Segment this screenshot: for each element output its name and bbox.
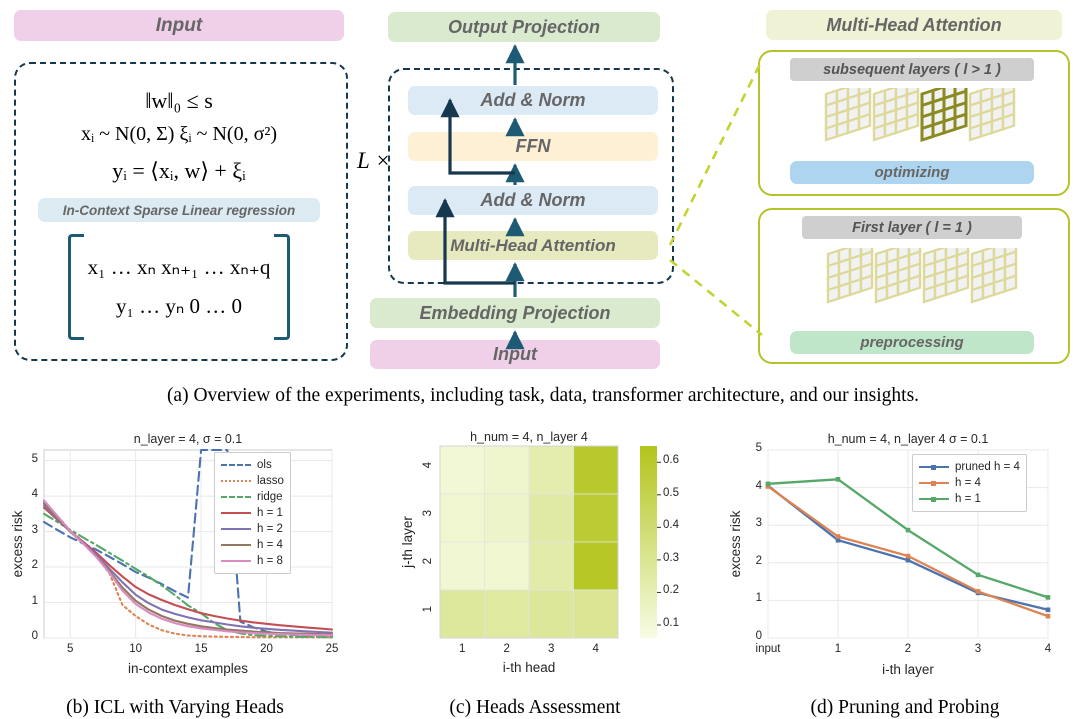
legend-label: ols (257, 459, 272, 471)
input-block-bottom: Input (370, 340, 660, 369)
chart-d-yaxis-label: excess risk (728, 450, 743, 638)
matrix-rows: x₁ … xₙ xₙ₊₁ … xₙ₊q y₁ … yₙ 0 … 0 (84, 248, 275, 326)
attention-heads-planes-subsequent (820, 88, 1030, 160)
legend-label: lasso (257, 475, 284, 487)
legend-swatch (221, 512, 251, 514)
chart-d-legend: pruned h = 4h = 4h = 1 (912, 454, 1027, 512)
output-projection-block: Output Projection (388, 12, 660, 42)
legend-label: h = 8 (257, 555, 283, 567)
chart-b-legend-item: lasso (221, 473, 284, 489)
legend-swatch (919, 466, 949, 468)
chart-b-legend-item: h = 2 (221, 521, 284, 537)
chart-d-xtick: input (746, 643, 790, 655)
preprocessing-chip: preprocessing (790, 331, 1034, 354)
chart-d-ytick: 1 (746, 592, 762, 604)
legend-marker (931, 465, 936, 470)
chart-d-xtick: 3 (956, 643, 1000, 655)
multi-head-attention-block: Multi-Head Attention (408, 231, 658, 260)
attention-heads-planes-first (822, 248, 1032, 326)
chart-c-xtick: 1 (452, 643, 472, 655)
task-name-chip: In-Context Sparse Linear regression (38, 198, 320, 222)
chart-c-xtick: 2 (497, 643, 517, 655)
legend-label: h = 1 (257, 507, 283, 519)
subsequent-layers-chip: subsequent layers ( l > 1 ) (790, 58, 1034, 81)
chart-b-xaxis-label: in-context examples (44, 661, 332, 676)
legend-swatch (919, 482, 949, 484)
chart-d-xtick: 1 (816, 643, 860, 655)
chart-c-ytick: 3 (422, 510, 434, 522)
add-norm-block-top: Add & Norm (408, 86, 658, 115)
chart-c-ytick: 4 (422, 462, 434, 474)
chart-c-xtick: 4 (586, 643, 606, 655)
chart-d-legend-item: h = 1 (919, 491, 1020, 507)
chart-c-ytick: 1 (422, 606, 434, 618)
embedding-projection-block: Embedding Projection (370, 298, 660, 328)
chart-b-legend: olslassoridgeh = 1h = 2h = 4h = 8 (214, 452, 291, 574)
chart-icl-varying-heads: olslassoridgeh = 1h = 2h = 4h = 8 n_laye… (8, 428, 340, 693)
legend-label: h = 4 (955, 477, 981, 489)
legend-swatch (919, 498, 949, 500)
chart-b-legend-item: ridge (221, 489, 284, 505)
formula-sparsity: ‖w‖₀ ≤ s (14, 88, 344, 114)
chart-b-xtick: 5 (58, 643, 82, 655)
caption-b: (b) ICL with Varying Heads (10, 697, 340, 719)
chart-c-colorbar-tick: 0.6 (663, 454, 679, 466)
caption-a: (a) Overview of the experiments, includi… (0, 385, 1086, 407)
chart-d-ytick: 5 (746, 442, 762, 454)
chart-c-title-text: h_num = 4, n_layer 4 (420, 430, 638, 444)
chart-d-legend-item: pruned h = 4 (919, 459, 1020, 475)
legend-swatch (221, 560, 251, 562)
chart-b-yaxis-label: excess risk (10, 450, 25, 638)
chart-d-ytick: 0 (746, 630, 762, 642)
layer-repeat-label: L × (357, 148, 391, 174)
chart-c-colorbar-tick: 0.3 (663, 552, 679, 564)
caption-c: (c) Heads Assessment (370, 697, 700, 719)
bracket-right-icon (274, 234, 290, 340)
optimizing-chip: optimizing (790, 161, 1034, 184)
legend-label: pruned h = 4 (955, 461, 1020, 473)
chart-c-colorbar-tick: 0.2 (663, 584, 679, 596)
chart-c-colorbar-tick: 0.1 (663, 617, 679, 629)
mha-detail-title: Multi-Head Attention (766, 10, 1062, 40)
chart-d-xtick: 2 (886, 643, 930, 655)
prompt-matrix: x₁ … xₙ xₙ₊₁ … xₙ₊q y₁ … yₙ 0 … 0 (34, 232, 324, 342)
chart-b-legend-item: h = 4 (221, 537, 284, 553)
chart-b-xtick: 25 (320, 643, 344, 655)
add-norm-block-bottom: Add & Norm (408, 186, 658, 215)
chart-c-colorbar-tick: 0.4 (663, 519, 679, 531)
legend-marker (931, 481, 936, 486)
bracket-left-icon (68, 234, 84, 340)
matrix-row-y: y₁ … yₙ 0 … 0 (88, 287, 271, 326)
chart-d-ytick: 4 (746, 480, 762, 492)
chart-pruning-probing: pruned h = 4h = 4h = 1 h_num = 4, n_laye… (712, 428, 1078, 693)
chart-b-legend-item: h = 1 (221, 505, 284, 521)
chart-c-ytick: 2 (422, 558, 434, 570)
chart-heads-assessment: 0.10.20.30.40.50.6h_num = 4, n_layer 412… (358, 428, 702, 693)
chart-c-colorbar-tick: 0.5 (663, 487, 679, 499)
chart-b-xtick: 20 (255, 643, 279, 655)
legend-swatch (221, 528, 251, 530)
chart-d-xtick: 4 (1026, 643, 1070, 655)
chart-d-xaxis-label: i-th layer (768, 662, 1048, 677)
formula-distributions: xᵢ ~ N(0, Σ) ξᵢ ~ N(0, σ²) (14, 123, 344, 146)
formula-response: yᵢ = ⟨xᵢ, w⟩ + ξᵢ (14, 158, 344, 184)
legend-swatch (221, 464, 251, 466)
chart-d-title-text: h_num = 4, n_layer 4 σ = 0.1 (748, 432, 1068, 446)
legend-label: h = 4 (257, 539, 283, 551)
matrix-row-x: x₁ … xₙ xₙ₊₁ … xₙ₊q (88, 248, 271, 287)
chart-b-legend-item: ols (221, 457, 284, 473)
ffn-block: FFN (408, 132, 658, 161)
chart-c-xtick: 3 (541, 643, 561, 655)
chart-c-xaxis-label: i-th head (440, 660, 618, 675)
chart-b-title-text: n_layer = 4, σ = 0.1 (44, 432, 332, 446)
legend-label: h = 2 (257, 523, 283, 535)
chart-b-xtick: 15 (189, 643, 213, 655)
chart-b-xtick: 10 (124, 643, 148, 655)
legend-swatch (221, 480, 251, 482)
chart-d-ytick: 3 (746, 517, 762, 529)
legend-label: h = 1 (955, 493, 981, 505)
legend-swatch (221, 496, 251, 498)
first-layer-chip: First layer ( l = 1 ) (802, 216, 1022, 239)
input-block-top: Input (14, 10, 344, 41)
legend-label: ridge (257, 491, 283, 503)
caption-d: (d) Pruning and Probing (740, 697, 1070, 719)
chart-b-legend-item: h = 8 (221, 553, 284, 569)
legend-swatch (221, 544, 251, 546)
chart-c-yaxis-label: j-th layer (400, 446, 415, 638)
chart-d-ytick: 2 (746, 555, 762, 567)
overview-diagram: Input ‖w‖₀ ≤ s xᵢ ~ N(0, Σ) ξᵢ ~ N(0, σ²… (0, 0, 1086, 378)
chart-d-legend-item: h = 4 (919, 475, 1020, 491)
legend-marker (931, 497, 936, 502)
